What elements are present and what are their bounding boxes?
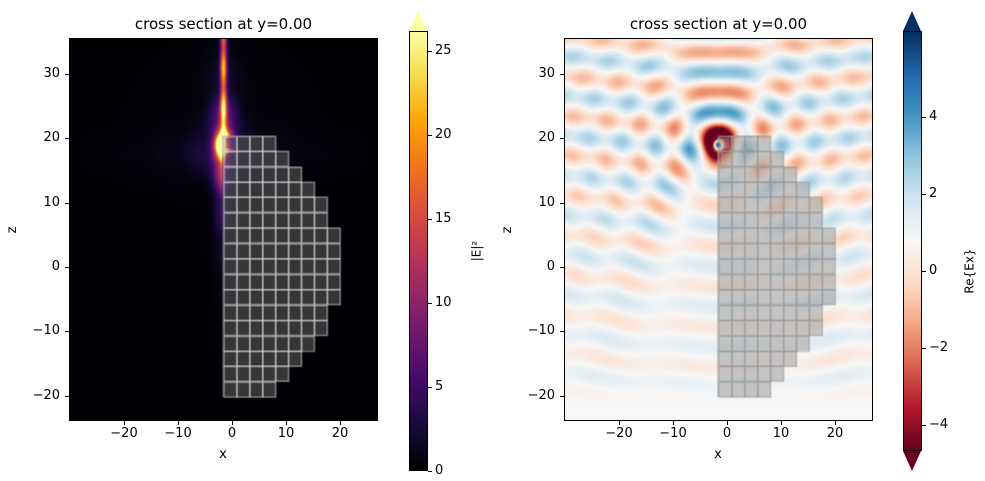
ytick-mark bbox=[65, 74, 69, 75]
colorbar-cap-max-icon bbox=[409, 11, 427, 31]
xtick-mark bbox=[286, 421, 287, 425]
xtick-label: −20 bbox=[110, 427, 137, 441]
xtick-mark bbox=[124, 421, 125, 425]
ytick-mark bbox=[560, 138, 564, 139]
axis-label-y-real-ex: z bbox=[501, 220, 515, 240]
cbar-tick-mark bbox=[428, 471, 432, 472]
ytick-label: 10 bbox=[20, 196, 60, 210]
cbar-tick-mark bbox=[428, 51, 432, 52]
field-heatmap-intensity bbox=[70, 39, 377, 420]
xtick-mark bbox=[178, 421, 179, 425]
ytick-label: 10 bbox=[515, 196, 555, 210]
ytick-mark bbox=[65, 138, 69, 139]
ytick-label: 30 bbox=[20, 67, 60, 81]
xtick-label: 10 bbox=[773, 427, 790, 441]
cbar-tick-mark bbox=[428, 135, 432, 136]
xtick-label: −10 bbox=[164, 427, 191, 441]
xtick-mark bbox=[727, 421, 728, 425]
cbar-tick-mark bbox=[428, 303, 432, 304]
colorbar-label-intensity: |E|² bbox=[471, 231, 484, 271]
ytick-mark bbox=[560, 74, 564, 75]
axes-real-ex bbox=[564, 38, 873, 421]
xtick-mark bbox=[781, 421, 782, 425]
cbar-tick-label: 2 bbox=[929, 187, 937, 201]
ytick-label: 0 bbox=[20, 260, 60, 274]
xtick-label: 0 bbox=[723, 427, 731, 441]
xtick-label: 20 bbox=[827, 427, 844, 441]
colorbar-cap-max-icon bbox=[903, 11, 921, 31]
ytick-label: 30 bbox=[515, 67, 555, 81]
cbar-tick-mark bbox=[428, 387, 432, 388]
panel-title-real-ex: cross section at y=0.00 bbox=[564, 16, 873, 33]
xtick-label: −10 bbox=[659, 427, 686, 441]
colorbar-cap-min-icon bbox=[903, 451, 921, 471]
ytick-mark bbox=[560, 203, 564, 204]
ytick-mark bbox=[560, 396, 564, 397]
cbar-tick-label: 25 bbox=[435, 44, 452, 58]
cbar-tick-label: 4 bbox=[929, 110, 937, 124]
cbar-tick-label: 0 bbox=[929, 264, 937, 278]
xtick-label: 0 bbox=[228, 427, 236, 441]
cbar-tick-label: 0 bbox=[435, 464, 443, 478]
ytick-label: 20 bbox=[20, 131, 60, 145]
cbar-tick-mark bbox=[922, 348, 926, 349]
axis-label-x-intensity: x bbox=[219, 448, 227, 462]
xtick-label: 10 bbox=[278, 427, 295, 441]
ytick-label: −20 bbox=[515, 389, 555, 403]
ytick-mark bbox=[65, 203, 69, 204]
ytick-mark bbox=[560, 267, 564, 268]
ytick-label: −10 bbox=[20, 324, 60, 338]
colorbar-label-real-ex: Re{Ex} bbox=[964, 241, 977, 301]
xtick-label: −20 bbox=[605, 427, 632, 441]
cbar-tick-label: −4 bbox=[929, 418, 948, 432]
ytick-mark bbox=[65, 331, 69, 332]
colorbar-gradient-intensity bbox=[409, 31, 428, 471]
axis-label-y-intensity: z bbox=[6, 220, 20, 240]
figure-canvas: cross section at y=0.00 −20 −10 0 10 20 … bbox=[0, 0, 985, 481]
cbar-tick-mark bbox=[428, 219, 432, 220]
cbar-tick-mark bbox=[922, 194, 926, 195]
xtick-label: 20 bbox=[332, 427, 349, 441]
xtick-mark bbox=[835, 421, 836, 425]
xtick-mark bbox=[619, 421, 620, 425]
cbar-tick-mark bbox=[922, 425, 926, 426]
cbar-tick-label: 10 bbox=[435, 296, 452, 310]
cbar-tick-mark bbox=[922, 117, 926, 118]
field-heatmap-real-ex bbox=[565, 39, 872, 420]
colorbar-gradient-real-ex bbox=[903, 31, 922, 451]
ytick-label: 20 bbox=[515, 131, 555, 145]
ytick-mark bbox=[65, 396, 69, 397]
axes-intensity bbox=[69, 38, 378, 421]
cbar-tick-label: 15 bbox=[435, 212, 452, 226]
ytick-mark bbox=[560, 331, 564, 332]
cbar-tick-label: 5 bbox=[435, 380, 443, 394]
axis-label-x-real-ex: x bbox=[714, 448, 722, 462]
ytick-mark bbox=[65, 267, 69, 268]
xtick-mark bbox=[232, 421, 233, 425]
cbar-tick-label: 20 bbox=[435, 128, 452, 142]
panel-title-intensity: cross section at y=0.00 bbox=[69, 16, 378, 33]
ytick-label: −20 bbox=[20, 389, 60, 403]
cbar-tick-mark bbox=[922, 271, 926, 272]
ytick-label: −10 bbox=[515, 324, 555, 338]
cbar-tick-label: −2 bbox=[929, 341, 948, 355]
xtick-mark bbox=[340, 421, 341, 425]
xtick-mark bbox=[673, 421, 674, 425]
ytick-label: 0 bbox=[515, 260, 555, 274]
